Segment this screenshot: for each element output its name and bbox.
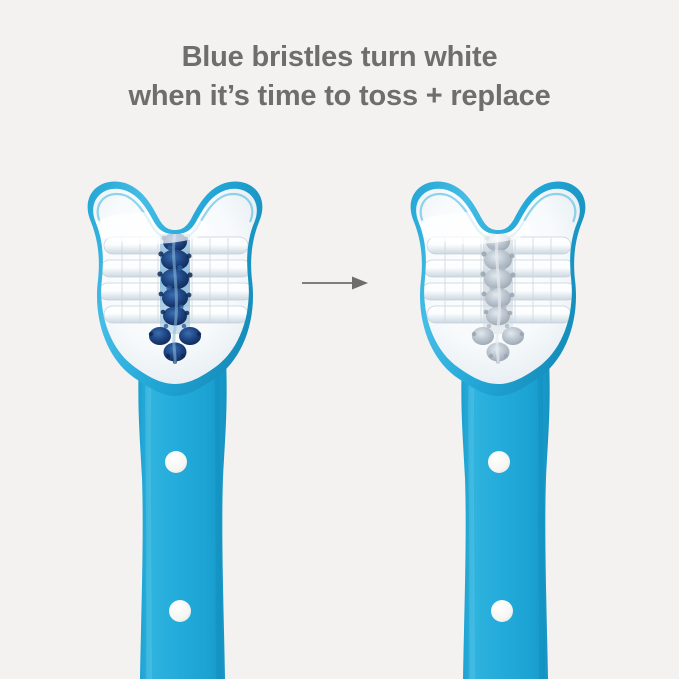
page-title: Blue bristles turn white when it’s time … bbox=[0, 38, 679, 115]
headline-line-1: Blue bristles turn white bbox=[0, 38, 679, 77]
image-root: Blue bristles turn white when it’s time … bbox=[0, 0, 679, 679]
right-arrow bbox=[302, 277, 368, 290]
handle-dot-after-1 bbox=[488, 451, 510, 473]
headline-line-2: when it’s time to toss + replace bbox=[0, 77, 679, 116]
handle-dot-after-2 bbox=[491, 600, 513, 622]
handle-dot-before-2 bbox=[169, 600, 191, 622]
handle-dot-before-1 bbox=[165, 451, 187, 473]
toothbrush-comparison-figure bbox=[0, 178, 679, 679]
